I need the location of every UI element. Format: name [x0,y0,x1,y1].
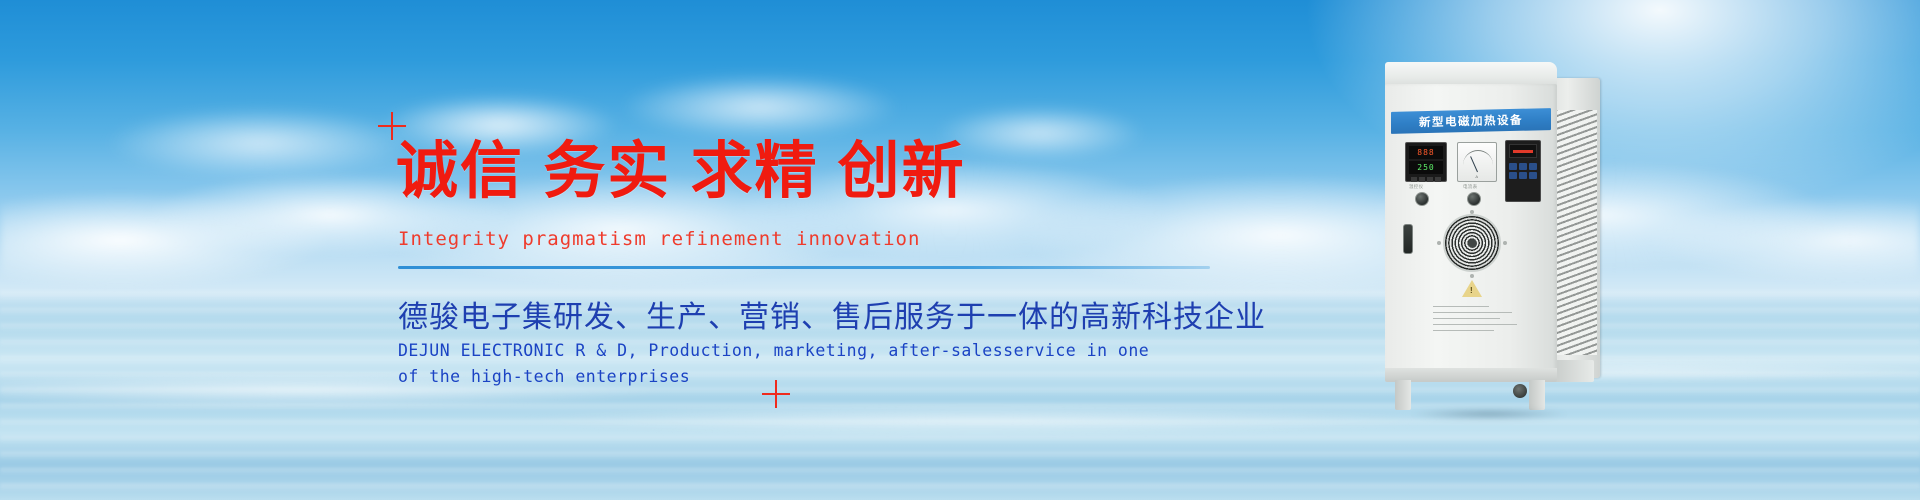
machine-fan-grille-icon [1443,214,1501,272]
product-machine-image: 新型电磁加热设备 888 250 A 温控仪 电流表 [1385,62,1600,417]
machine-control-keypad[interactable] [1505,140,1541,202]
machine-knob-right[interactable] [1467,192,1481,206]
machine-side-foot [1554,360,1594,382]
gauge-arc [1463,150,1493,166]
display-value-bottom: 250 [1409,161,1443,174]
machine-front-panel: 新型电磁加热设备 888 250 A 温控仪 电流表 [1385,84,1557,374]
machine-knob-left[interactable] [1415,192,1429,206]
machine-side-vents [1553,110,1597,355]
tagline-english: Integrity pragmatism refinement innovati… [398,228,920,250]
machine-cable-port [1513,384,1527,398]
plus-decoration-icon-secondary [762,380,790,408]
machine-nameplate: 新型电磁加热设备 [1391,108,1551,134]
divider-rule [398,266,1210,269]
machine-digital-display: 888 250 [1405,142,1447,182]
machine-analog-gauge: A [1457,142,1497,182]
subheadline-chinese: 德骏电子集研发、生产、营销、售后服务于一体的高新科技企业 [398,292,1266,336]
gauge-caption-left: 温控仪 [1409,184,1423,190]
display-button-row[interactable] [1409,177,1443,182]
warning-triangle-icon [1462,280,1482,297]
machine-spec-label [1433,306,1529,336]
headline-chinese: 诚信 务实 求精 创新 [396,120,966,210]
gauge-caption-right: 电流表 [1463,184,1477,190]
display-value-top: 888 [1409,146,1443,159]
machine-switch-handle[interactable] [1403,224,1413,254]
fan-screw [1503,241,1507,245]
description-line-1: DEJUN ELECTRONIC R & D, Production, mark… [398,338,1149,364]
keypad-keys[interactable] [1509,163,1537,179]
copy-block: 诚信 务实 求精 创新 Integrity pragmatism refinem… [0,0,1300,500]
fan-screw [1470,274,1474,278]
keypad-lcd [1509,144,1537,158]
fan-screw [1437,241,1441,245]
gauge-face-label: A [1458,174,1496,179]
machine-shadow [1379,406,1599,422]
fan-screw [1470,210,1474,214]
promotional-banner: 诚信 务实 求精 创新 Integrity pragmatism refinem… [0,0,1920,500]
machine-nameplate-text: 新型电磁加热设备 [1419,112,1523,131]
